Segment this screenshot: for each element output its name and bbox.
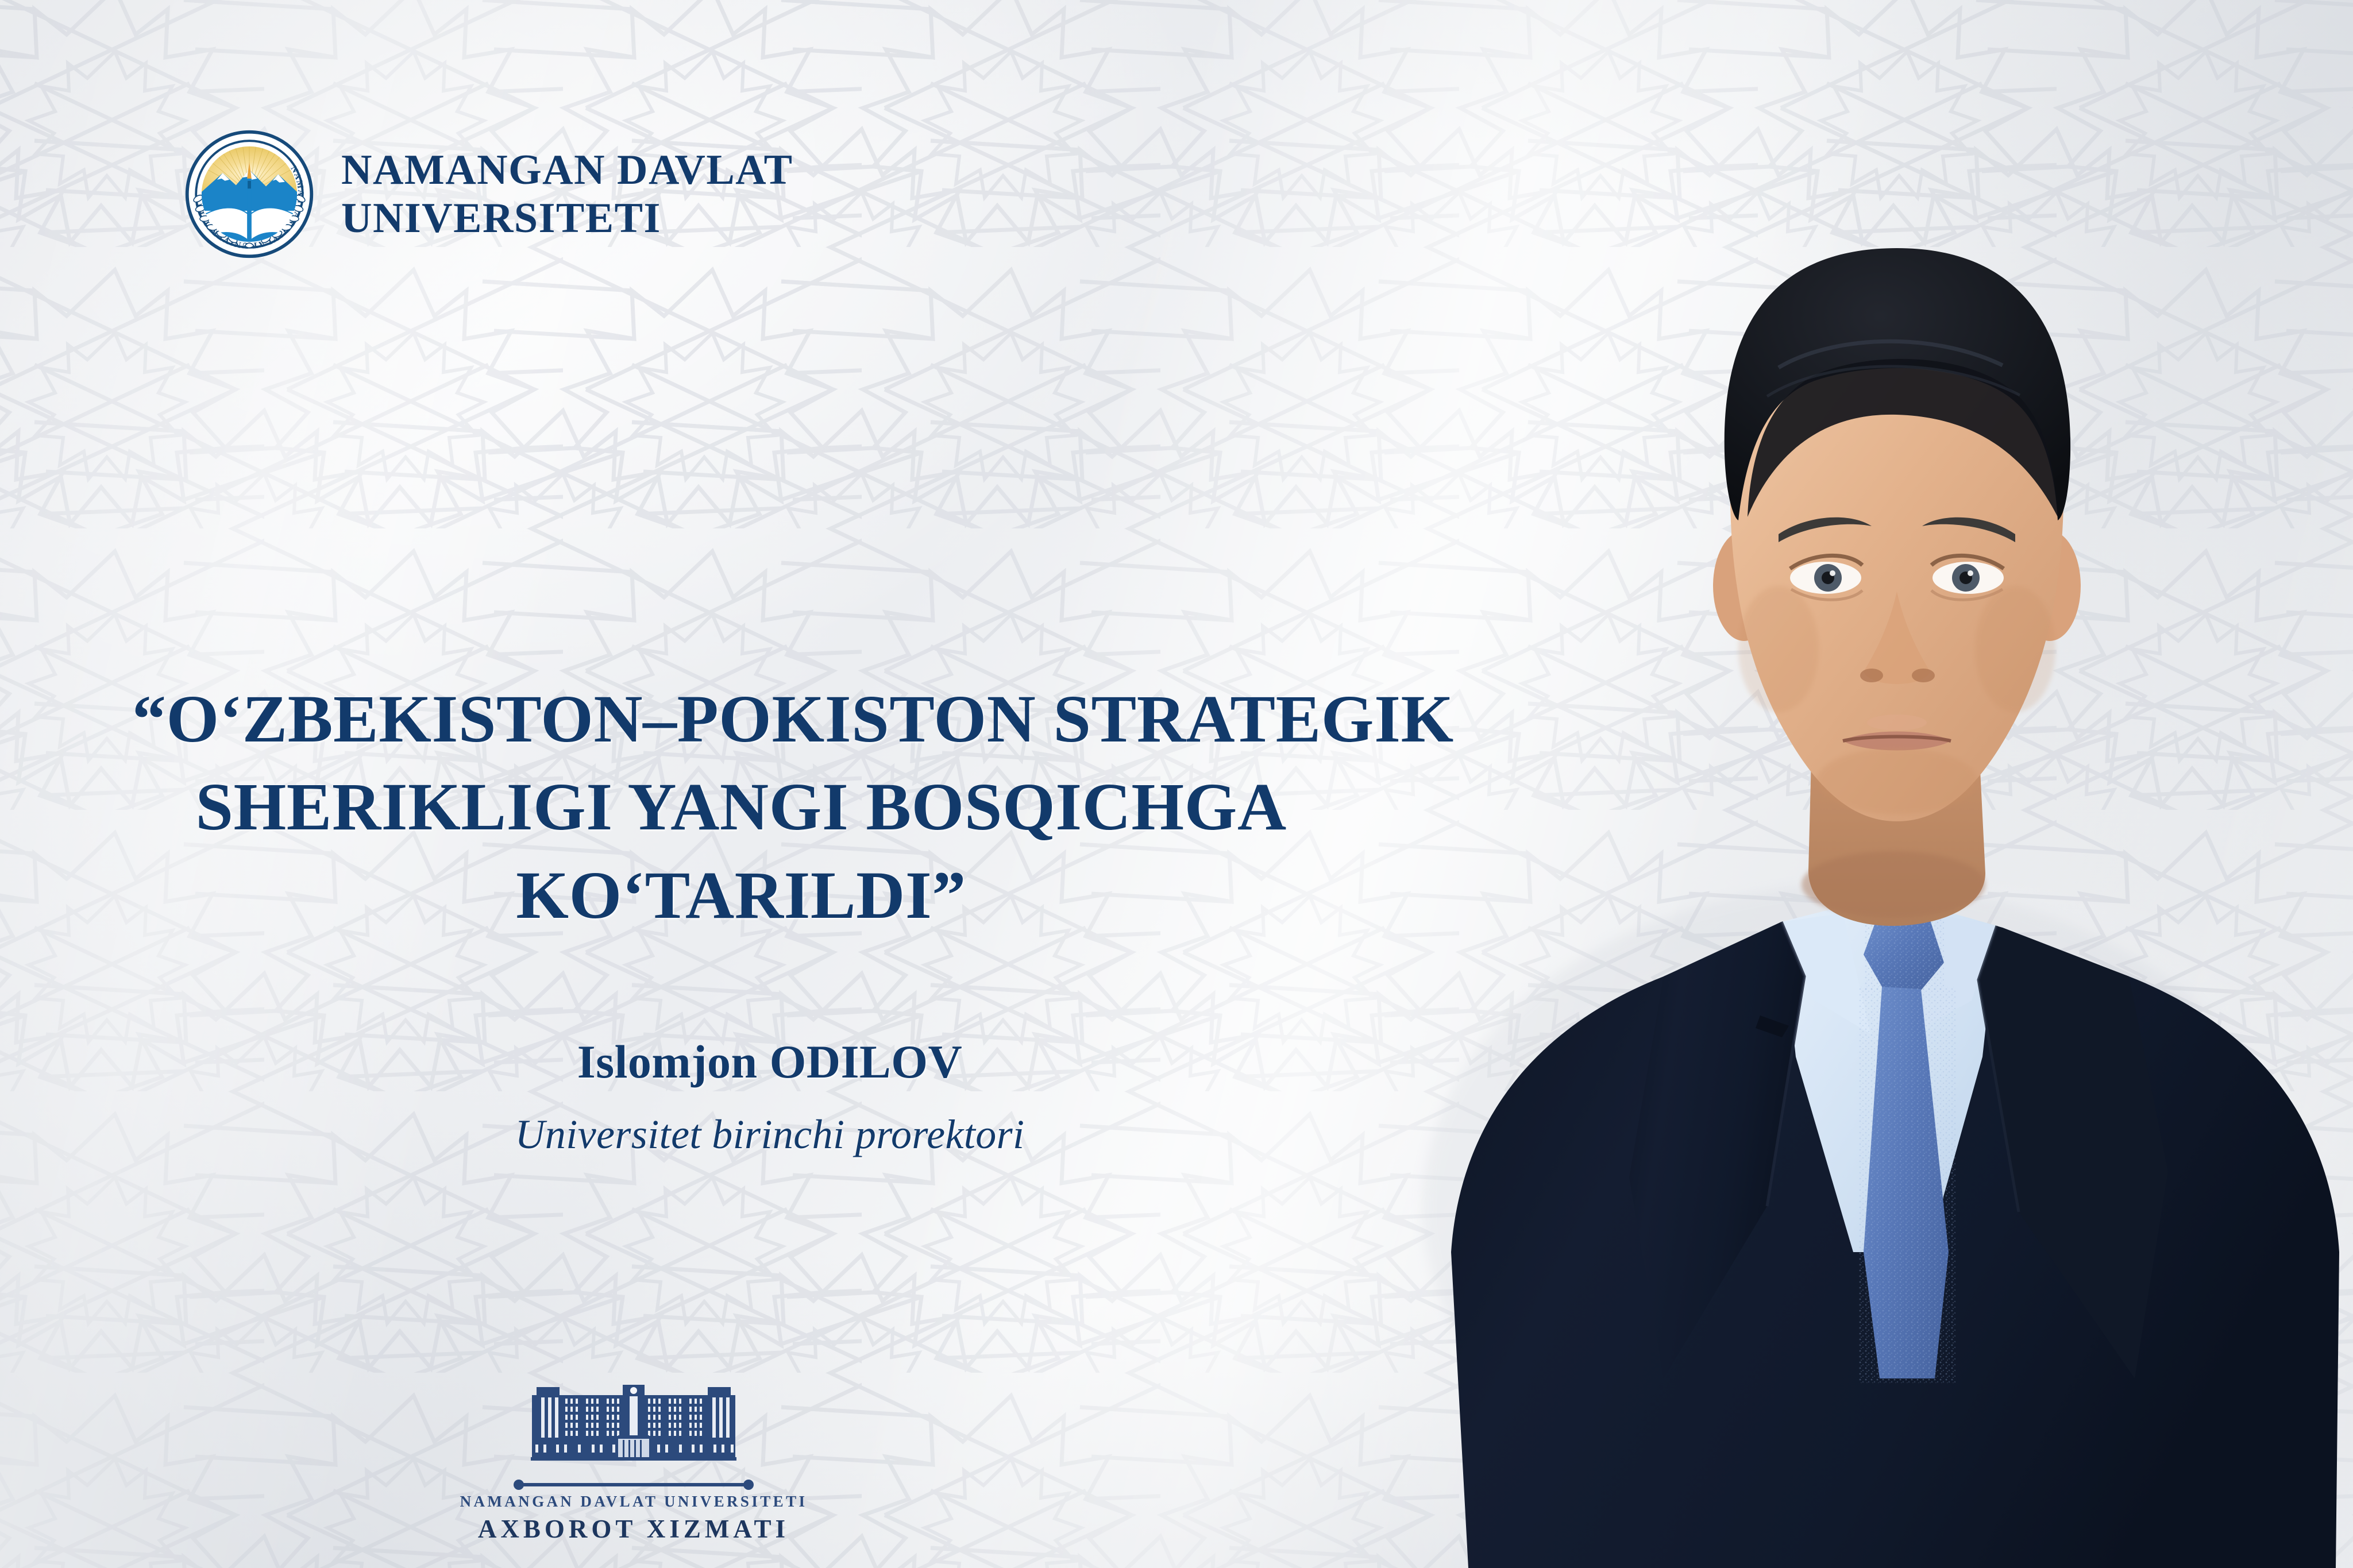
headline-text: “O‘ZBEKISTON–POKISTON STRATEGIK SHERIKLI… [132, 675, 1350, 939]
speaker-role: Universitet birinchi prorektori [322, 1110, 1218, 1159]
poster-canvas: NAMANGAN DAVLAT UNIVERSITETI [0, 0, 2353, 1568]
university-seal-icon: NAMANGAN DAVLAT UNIVERSITETI [183, 128, 316, 261]
headline-line-2: SHERIKLIGI YANGI BOSQICHGA [132, 763, 1350, 851]
headline-line-3: KO‘TARILDI” [132, 851, 1350, 939]
brand-title-line2: UNIVERSITETI [341, 194, 793, 242]
brand-title: NAMANGAN DAVLAT UNIVERSITETI [341, 146, 793, 243]
brand-title-line1: NAMANGAN DAVLAT [341, 146, 793, 194]
footer-emblem: NAMANGAN DAVLAT UNIVERSITETI AXBOROT XIZ… [499, 1378, 769, 1544]
headline-line-1: “O‘ZBEKISTON–POKISTON STRATEGIK [132, 675, 1350, 763]
speaker-block: Islomjon ODILOV Universitet birinchi pro… [322, 1034, 1218, 1160]
footer-divider-rule [519, 1483, 749, 1486]
speaker-name: Islomjon ODILOV [322, 1034, 1218, 1090]
university-building-icon [516, 1378, 751, 1478]
footer-text-line1: NAMANGAN DAVLAT UNIVERSITETI [460, 1493, 808, 1511]
brand-header: NAMANGAN DAVLAT UNIVERSITETI [183, 128, 793, 261]
footer-text-line2: AXBOROT XIZMATI [478, 1514, 789, 1544]
